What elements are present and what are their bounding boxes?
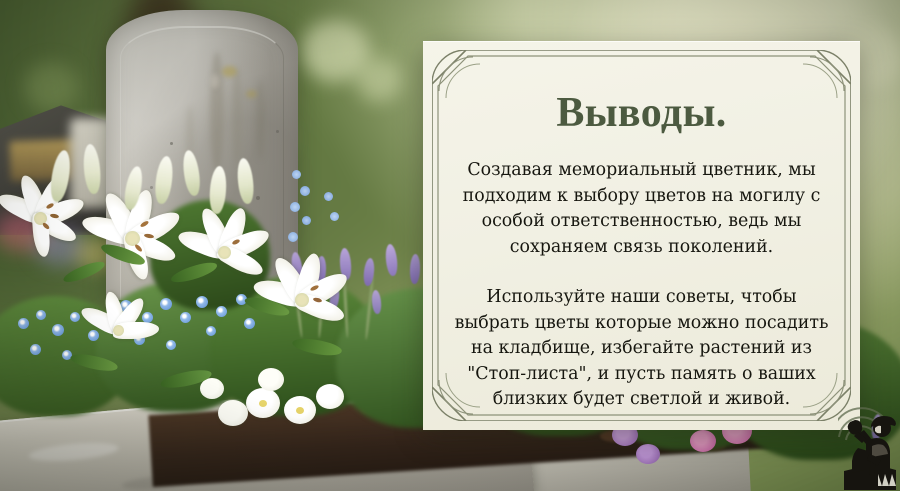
headstone-speck	[256, 196, 260, 200]
headstone-weather-streak	[256, 80, 265, 160]
petunia-center	[259, 400, 267, 407]
stonemason-logo	[838, 404, 900, 491]
forget-me-not	[196, 296, 208, 308]
bokeh-light	[356, 58, 402, 102]
lily-center	[218, 246, 231, 259]
forget-me-not	[180, 312, 191, 323]
delphinium-floret	[300, 186, 310, 196]
headstone-weather-streak	[232, 68, 242, 164]
forget-me-not	[52, 324, 64, 336]
delphinium-floret	[288, 232, 298, 242]
white-petunia	[200, 378, 224, 399]
forget-me-not	[30, 344, 41, 355]
delphinium-floret	[292, 170, 301, 179]
forget-me-not	[206, 326, 216, 336]
lily-center	[113, 325, 124, 336]
conclusion-card: Выводы. Создавая мемориальный цветник, м…	[423, 41, 860, 430]
headstone-moss	[246, 90, 257, 98]
violet-petunia	[636, 444, 660, 464]
delphinium-floret	[302, 216, 311, 225]
paragraph-2: Используйте наши советы, чтобы выбрать ц…	[453, 285, 830, 413]
pink-petunia	[690, 430, 716, 452]
paragraph-1: Создавая мемориальный цветник, мы подход…	[453, 158, 830, 260]
lily-center	[295, 293, 309, 307]
white-petunia	[258, 368, 284, 391]
forget-me-not	[18, 318, 29, 329]
page-title: Выводы.	[423, 90, 860, 136]
screenshot-root: Выводы. Создавая мемориальный цветник, м…	[0, 0, 900, 491]
forget-me-not	[166, 340, 176, 350]
headstone-speck	[276, 130, 279, 133]
forget-me-not	[216, 306, 227, 317]
forget-me-not	[244, 318, 255, 329]
white-petunia	[316, 384, 344, 409]
headstone-moss	[222, 66, 237, 77]
bokeh-light	[24, 62, 78, 112]
forget-me-not	[88, 330, 99, 341]
forget-me-not	[70, 312, 80, 322]
kerb-texture	[28, 440, 119, 464]
card-body-text: Создавая мемориальный цветник, мы подход…	[453, 158, 830, 413]
forget-me-not	[36, 310, 46, 320]
headstone-moss	[210, 74, 219, 88]
white-petunia	[218, 400, 248, 426]
petunia-center	[296, 407, 304, 414]
delphinium-floret	[290, 202, 300, 212]
delphinium-floret	[330, 212, 339, 221]
delphinium-floret	[324, 192, 333, 201]
forget-me-not	[160, 298, 172, 310]
headstone-speck	[150, 186, 153, 189]
headstone-speck	[170, 142, 173, 145]
